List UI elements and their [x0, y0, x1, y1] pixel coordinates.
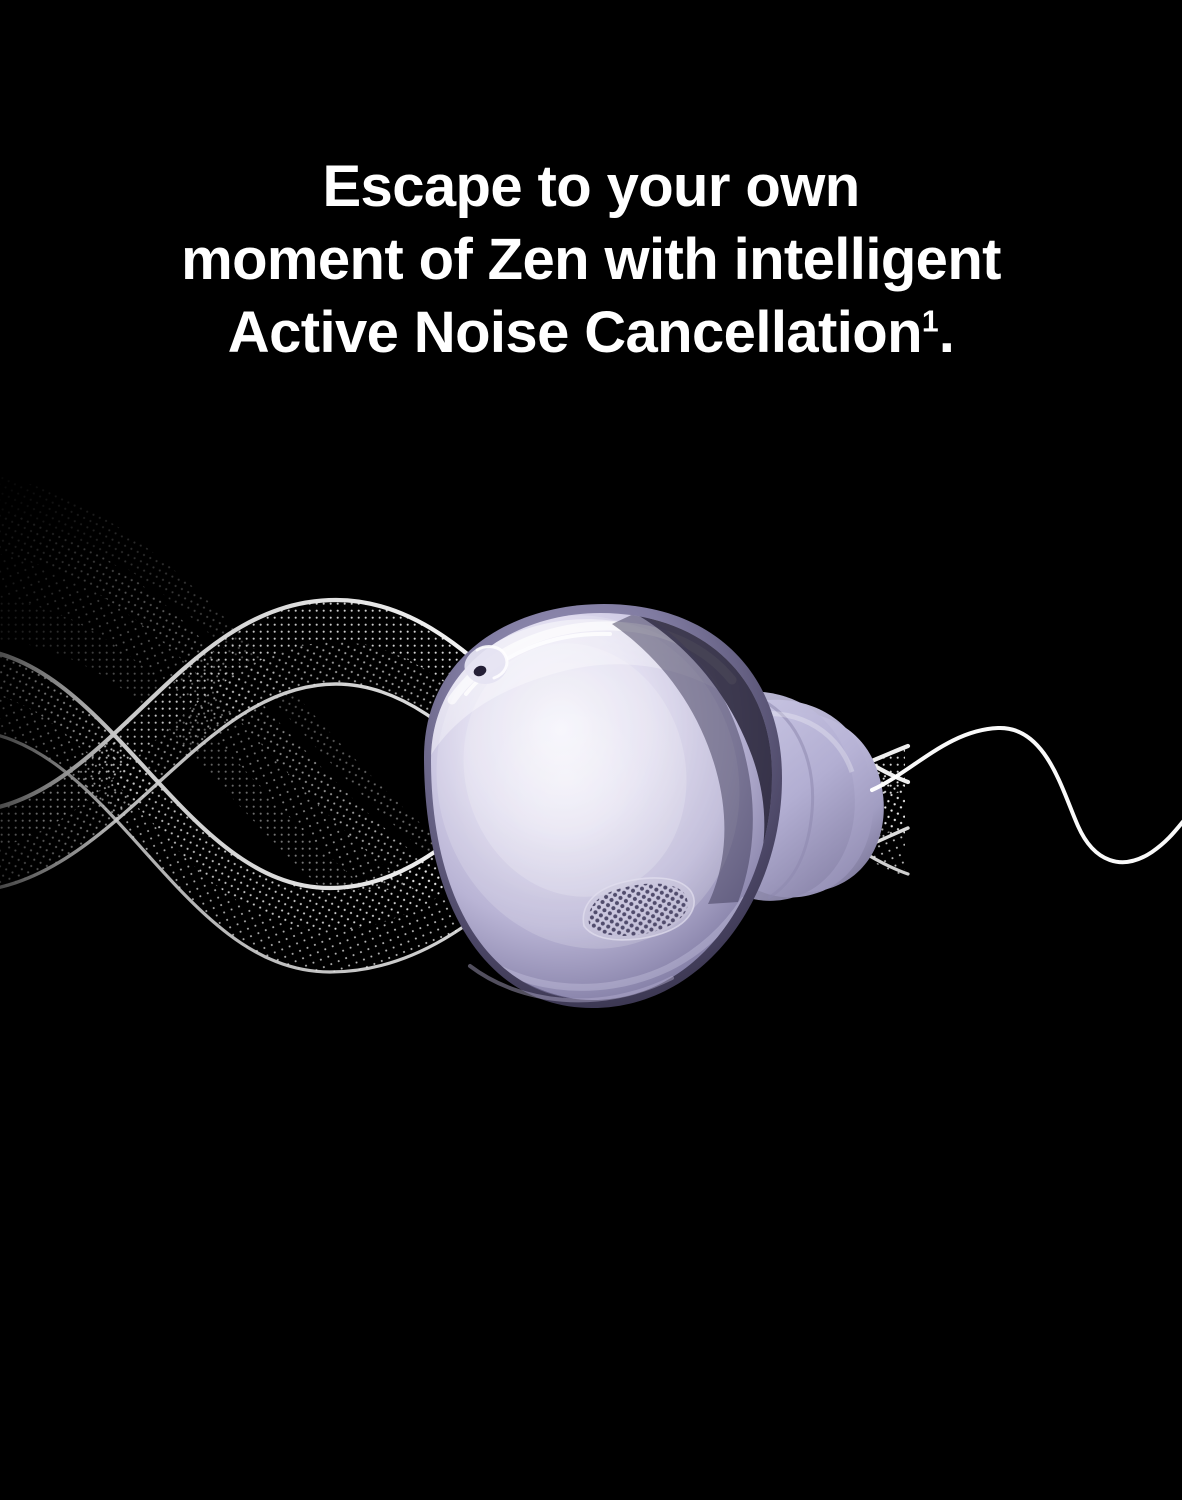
headline-line-1: Escape to your own — [0, 150, 1182, 223]
headline-line-3: Active Noise Cancellation1. — [0, 296, 1182, 369]
headline-line-3-text: Active Noise Cancellation — [228, 300, 922, 365]
headline-line-2: moment of Zen with intelligent — [0, 223, 1182, 296]
earbud-shell — [424, 604, 782, 1008]
page-title: Escape to your own moment of Zen with in… — [0, 150, 1182, 369]
galaxy-buds-pro-earbud — [398, 576, 884, 1044]
sound-wave-tail — [872, 728, 1182, 862]
headline-period: . — [939, 300, 955, 365]
anc-promo-banner: Escape to your own moment of Zen with in… — [0, 0, 1182, 1500]
earbud-vent-slot — [464, 646, 507, 684]
earbud-dome — [431, 613, 772, 1000]
footnote-marker: 1 — [922, 306, 939, 339]
earbud-eartip — [688, 691, 884, 900]
earbud-pinhole — [472, 664, 488, 678]
sound-wave-ribbon — [0, 470, 908, 978]
earbud-microphone-grille — [583, 878, 694, 940]
